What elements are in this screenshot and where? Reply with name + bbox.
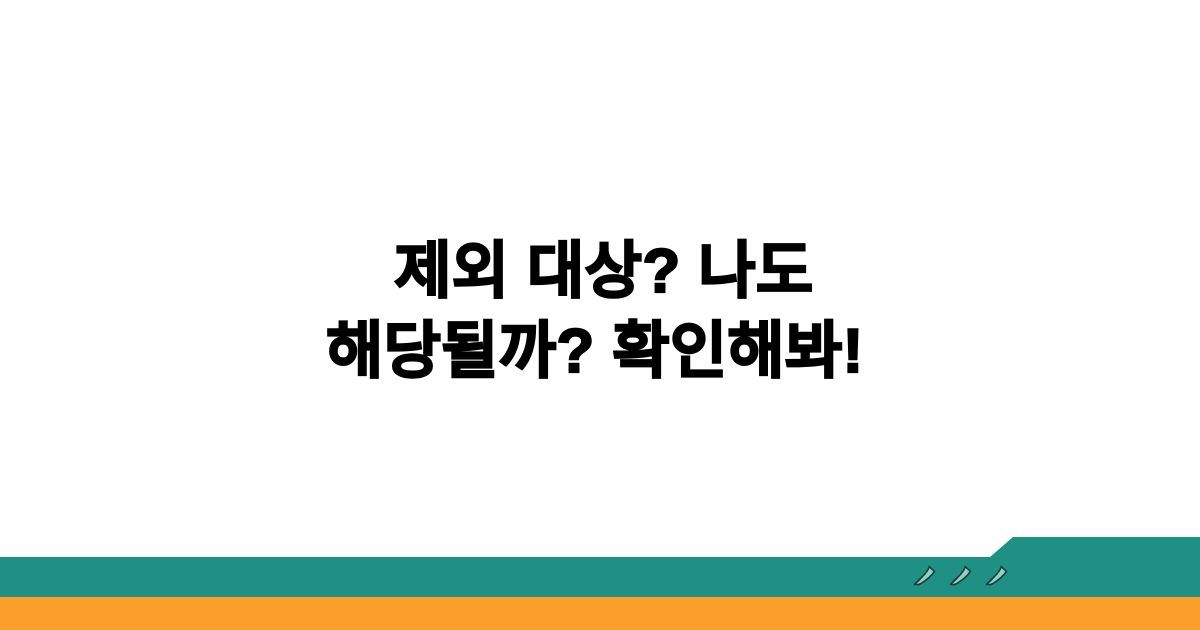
banner-canvas: 제외 대상? 나도 해당될까? 확인해봐! <box>0 0 1200 630</box>
sparkle-diamond-3 <box>984 564 1010 588</box>
sparkle-diamond-1 <box>912 564 938 588</box>
teal-band <box>0 537 1200 597</box>
page-title-line-2: 해당될까? 확인해봐! <box>0 312 1200 392</box>
sparkle-row <box>912 563 1010 589</box>
orange-band <box>0 597 1200 630</box>
sparkle-diamond-2 <box>948 564 974 588</box>
page-title-line-1: 제외 대상? 나도 <box>0 232 1200 312</box>
page-title: 제외 대상? 나도 해당될까? 확인해봐! <box>0 232 1200 392</box>
